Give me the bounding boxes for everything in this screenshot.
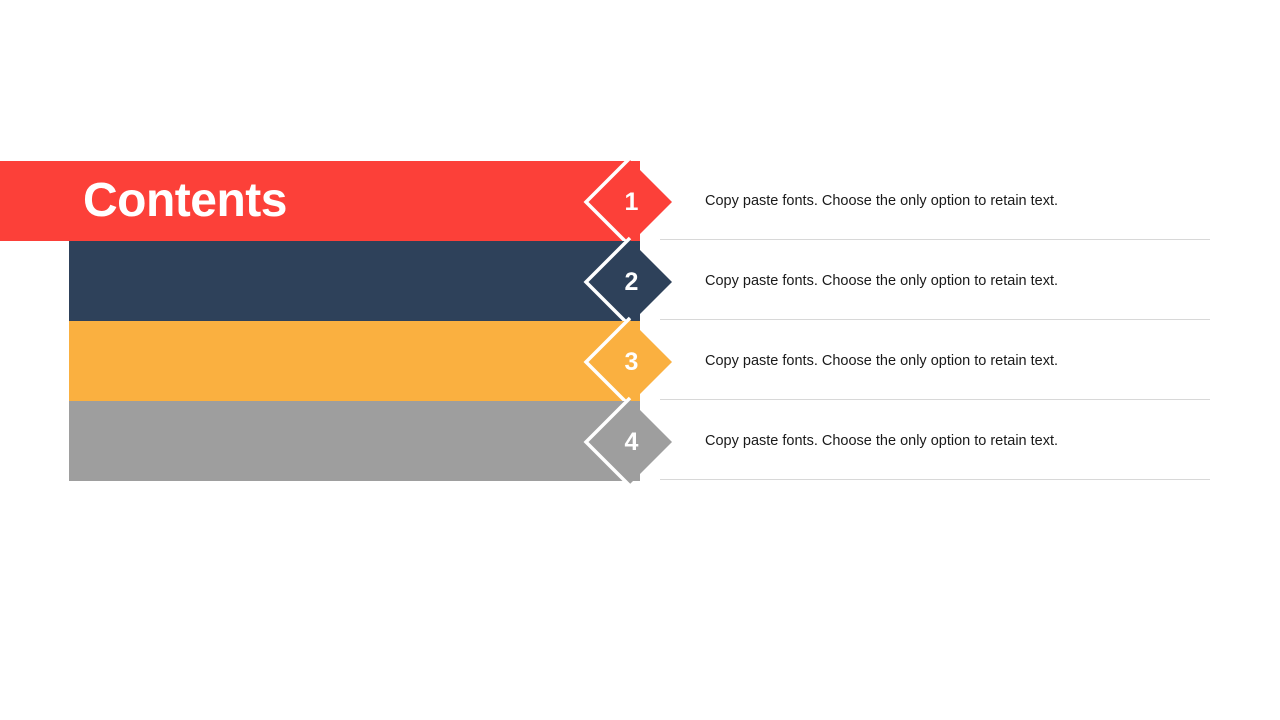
row-color-bar-4 <box>69 401 640 481</box>
contents-row-3[interactable]: 3 Copy paste fonts. Choose the only opti… <box>0 321 1280 401</box>
row-separator-4 <box>660 479 1210 480</box>
contents-row-1[interactable]: Contents 1 Copy paste fonts. Choose the … <box>0 161 1280 241</box>
row-description-2: Copy paste fonts. Choose the only option… <box>705 241 1058 321</box>
row-separator-1 <box>660 239 1210 240</box>
marker-number-3: 3 <box>588 320 672 404</box>
marker-number-1: 1 <box>588 160 672 244</box>
row-color-bar-3 <box>69 321 640 401</box>
diamond-marker-4[interactable]: 4 <box>588 400 672 484</box>
marker-number-2: 2 <box>588 240 672 324</box>
contents-row-4[interactable]: 4 Copy paste fonts. Choose the only opti… <box>0 401 1280 481</box>
contents-slide: Contents 1 Copy paste fonts. Choose the … <box>0 0 1280 720</box>
diamond-marker-1[interactable]: 1 <box>588 160 672 244</box>
marker-number-4: 4 <box>588 400 672 484</box>
diamond-marker-2[interactable]: 2 <box>588 240 672 324</box>
diamond-marker-3[interactable]: 3 <box>588 320 672 404</box>
page-title: Contents <box>83 161 287 241</box>
row-description-1: Copy paste fonts. Choose the only option… <box>705 161 1058 241</box>
row-separator-2 <box>660 319 1210 320</box>
row-description-4: Copy paste fonts. Choose the only option… <box>705 401 1058 481</box>
row-description-3: Copy paste fonts. Choose the only option… <box>705 321 1058 401</box>
row-separator-3 <box>660 399 1210 400</box>
row-color-bar-2 <box>69 241 640 321</box>
contents-row-2[interactable]: 2 Copy paste fonts. Choose the only opti… <box>0 241 1280 321</box>
